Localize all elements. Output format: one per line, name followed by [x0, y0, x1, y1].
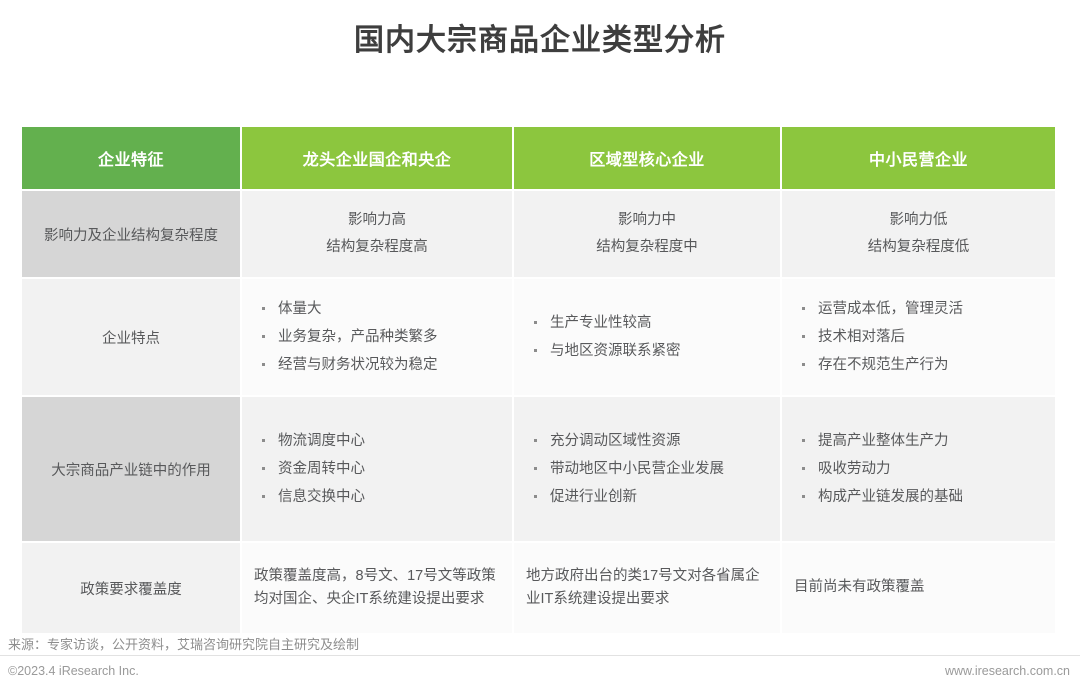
table-header-row: 企业特征 龙头企业国企和央企 区域型核心企业 中小民营企业: [21, 126, 1056, 190]
list-item: 提高产业整体生产力: [800, 427, 1045, 455]
cell-line: 结构复杂程度中: [514, 234, 780, 261]
table-row: 企业特点 体量大 业务复杂，产品种类繁多 经营与财务状况较为稳定 生产专业性较高…: [21, 278, 1056, 396]
list-item: 存在不规范生产行为: [800, 351, 1045, 379]
copyright-text: ©2023.4 iResearch Inc.: [8, 664, 139, 678]
row-label-characteristics: 企业特点: [21, 278, 241, 396]
list-item: 吸收劳动力: [800, 455, 1045, 483]
cell-influence-sme: 影响力低 结构复杂程度低: [781, 190, 1056, 278]
website-url: www.iresearch.com.cn: [945, 664, 1070, 678]
list-item: 运营成本低，管理灵活: [800, 295, 1045, 323]
row-label-influence: 影响力及企业结构复杂程度: [21, 190, 241, 278]
column-header-leading-soe: 龙头企业国企和央企: [241, 126, 513, 190]
cell-line: 影响力高: [242, 207, 512, 234]
cell-policy-leading: 政策覆盖度高，8号文、17号文等政策均对国企、央企IT系统建设提出要求: [241, 542, 513, 634]
cell-role-regional: 充分调动区域性资源 带动地区中小民营企业发展 促进行业创新: [513, 396, 781, 542]
cell-characteristics-leading: 体量大 业务复杂，产品种类繁多 经营与财务状况较为稳定: [241, 278, 513, 396]
list-item: 物流调度中心: [260, 427, 502, 455]
list-item: 充分调动区域性资源: [532, 427, 770, 455]
list-item: 体量大: [260, 295, 502, 323]
list-item: 生产专业性较高: [532, 309, 770, 337]
bullet-list: 物流调度中心 资金周转中心 信息交换中心: [242, 427, 512, 512]
cell-line: 影响力低: [782, 207, 1055, 234]
cell-policy-regional: 地方政府出台的类17号文对各省属企业IT系统建设提出要求: [513, 542, 781, 634]
list-item: 促进行业创新: [532, 483, 770, 511]
table-row: 政策要求覆盖度 政策覆盖度高，8号文、17号文等政策均对国企、央企IT系统建设提…: [21, 542, 1056, 634]
list-item: 业务复杂，产品种类繁多: [260, 323, 502, 351]
list-item: 信息交换中心: [260, 483, 502, 511]
table-header: 企业特征 龙头企业国企和央企 区域型核心企业 中小民营企业: [21, 126, 1056, 190]
bullet-list: 提高产业整体生产力 吸收劳动力 构成产业链发展的基础: [782, 427, 1055, 512]
cell-paragraph: 政策覆盖度高，8号文、17号文等政策均对国企、央企IT系统建设提出要求: [242, 565, 512, 612]
cell-role-sme: 提高产业整体生产力 吸收劳动力 构成产业链发展的基础: [781, 396, 1056, 542]
cell-paragraph: 地方政府出台的类17号文对各省属企业IT系统建设提出要求: [514, 565, 780, 612]
cell-characteristics-regional: 生产专业性较高 与地区资源联系紧密: [513, 278, 781, 396]
column-header-feature: 企业特征: [21, 126, 241, 190]
bullet-list: 体量大 业务复杂，产品种类繁多 经营与财务状况较为稳定: [242, 295, 512, 380]
list-item: 经营与财务状况较为稳定: [260, 351, 502, 379]
cell-influence-regional: 影响力中 结构复杂程度中: [513, 190, 781, 278]
cell-influence-leading: 影响力高 结构复杂程度高: [241, 190, 513, 278]
cell-role-leading: 物流调度中心 资金周转中心 信息交换中心: [241, 396, 513, 542]
list-item: 带动地区中小民营企业发展: [532, 455, 770, 483]
row-label-policy-coverage: 政策要求覆盖度: [21, 542, 241, 634]
enterprise-type-table: 企业特征 龙头企业国企和央企 区域型核心企业 中小民营企业 影响力及企业结构复杂…: [20, 125, 1057, 635]
table-row: 影响力及企业结构复杂程度 影响力高 结构复杂程度高 影响力中 结构复杂程度中 影: [21, 190, 1056, 278]
cell-line: 影响力中: [514, 207, 780, 234]
cell-line: 结构复杂程度低: [782, 234, 1055, 261]
cell-paragraph: 目前尚未有政策覆盖: [782, 576, 1055, 599]
page-title: 国内大宗商品企业类型分析: [0, 0, 1080, 64]
list-item: 构成产业链发展的基础: [800, 483, 1045, 511]
cell-policy-sme: 目前尚未有政策覆盖: [781, 542, 1056, 634]
column-header-regional-core: 区域型核心企业: [513, 126, 781, 190]
bullet-list: 充分调动区域性资源 带动地区中小民营企业发展 促进行业创新: [514, 427, 780, 512]
source-note: 来源：专家访谈，公开资料，艾瑞咨询研究院自主研究及绘制: [8, 634, 359, 653]
bullet-list: 运营成本低，管理灵活 技术相对落后 存在不规范生产行为: [782, 295, 1055, 380]
table-body: 影响力及企业结构复杂程度 影响力高 结构复杂程度高 影响力中 结构复杂程度中 影: [21, 190, 1056, 634]
cell-characteristics-sme: 运营成本低，管理灵活 技术相对落后 存在不规范生产行为: [781, 278, 1056, 396]
cell-line: 结构复杂程度高: [242, 234, 512, 261]
row-label-supply-chain-role: 大宗商品产业链中的作用: [21, 396, 241, 542]
table-row: 大宗商品产业链中的作用 物流调度中心 资金周转中心 信息交换中心 充分调动区域性…: [21, 396, 1056, 542]
list-item: 技术相对落后: [800, 323, 1045, 351]
bullet-list: 生产专业性较高 与地区资源联系紧密: [514, 309, 780, 366]
list-item: 资金周转中心: [260, 455, 502, 483]
column-header-sme-private: 中小民营企业: [781, 126, 1056, 190]
list-item: 与地区资源联系紧密: [532, 337, 770, 365]
page-footer: ©2023.4 iResearch Inc. www.iresearch.com…: [0, 656, 1080, 689]
analysis-table-container: 企业特征 龙头企业国企和央企 区域型核心企业 中小民营企业 影响力及企业结构复杂…: [20, 125, 1055, 635]
